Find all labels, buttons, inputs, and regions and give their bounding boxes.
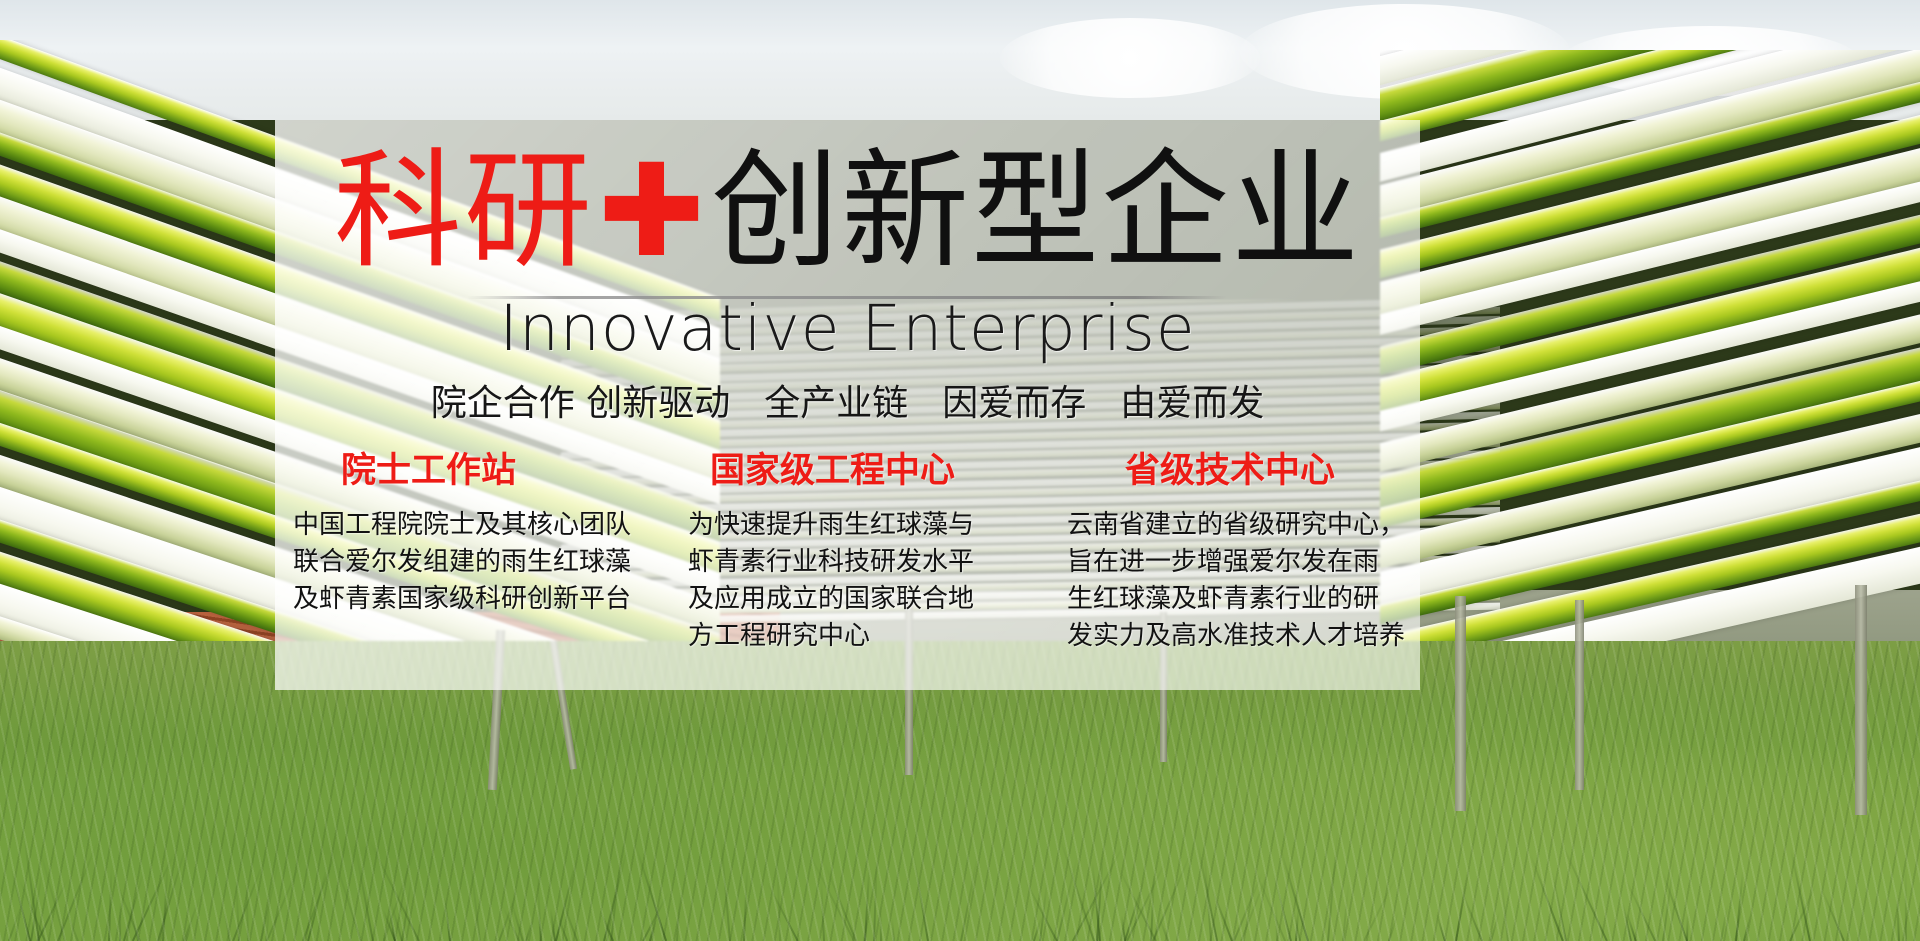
grass-blade xyxy=(132,852,175,941)
grass-blade xyxy=(265,894,271,941)
body-line: 为快速提升雨生红球藻与 xyxy=(688,507,1037,544)
grass-blade xyxy=(1158,918,1169,941)
grass-blade xyxy=(1240,857,1274,941)
grass-blade xyxy=(1124,880,1145,941)
grass-blade xyxy=(1024,878,1058,941)
tagline-item: 由爱而发 xyxy=(1120,374,1264,426)
grass-blade xyxy=(823,862,857,941)
support-post xyxy=(1575,600,1584,790)
grass-blade xyxy=(1388,911,1399,941)
tagline-item: 全产业链 xyxy=(764,374,908,426)
grass-blade xyxy=(22,830,40,941)
grass-blade xyxy=(801,840,854,941)
grass-blade xyxy=(891,918,895,941)
grass-blade xyxy=(302,844,339,941)
tagline-row: 院企合作 创新驱动全产业链因爱而存由爱而发 xyxy=(275,374,1420,426)
grass-blade xyxy=(30,872,43,941)
grass-blade xyxy=(634,843,667,941)
grass-blade xyxy=(1121,916,1126,941)
grass-blade xyxy=(1905,864,1907,941)
grass-blade xyxy=(1459,887,1483,941)
body-line: 生红球藻及虾青素行业的研 xyxy=(1067,581,1420,618)
grass-blade xyxy=(1436,913,1447,941)
body-line: 旨在进一步增强爱尔发在雨 xyxy=(1067,544,1420,581)
grass-blade xyxy=(108,865,113,941)
grass-blade xyxy=(1720,904,1729,941)
grass-blade xyxy=(873,856,878,941)
grass-blade xyxy=(1686,914,1689,941)
grass-blade xyxy=(537,910,542,941)
grass-blade xyxy=(1327,830,1339,941)
grass-blade xyxy=(1203,847,1212,941)
title-black-text: 创新型企业 xyxy=(711,137,1361,286)
grass-blade xyxy=(1233,870,1264,941)
column-heading: 省级技术中心 xyxy=(1067,442,1420,493)
grass-blade xyxy=(1210,886,1233,941)
grass-blade xyxy=(960,853,979,941)
grass-blade xyxy=(1272,873,1291,941)
grass-blade xyxy=(1295,908,1299,941)
grass-blade xyxy=(1126,856,1169,941)
grass-blade xyxy=(8,902,23,941)
grass-blade xyxy=(525,919,534,941)
grass-blade xyxy=(1491,911,1501,941)
grass-blade xyxy=(1114,859,1157,941)
grass-blade xyxy=(1624,878,1656,941)
body-line: 云南省建立的省级研究中心， xyxy=(1067,507,1420,544)
cloud-shape xyxy=(1000,18,1260,98)
grass-blade xyxy=(1622,901,1632,941)
grass-blade xyxy=(743,866,748,941)
subtitle-english: Innovative Enterprise xyxy=(275,292,1420,365)
grass-blade xyxy=(1626,912,1637,941)
grass-blade xyxy=(1091,861,1101,941)
banner-stage: 科研✚创新型企业 Innovative Enterprise 院企合作 创新驱动… xyxy=(0,0,1920,941)
grass-blade xyxy=(1662,857,1675,941)
grass-blade xyxy=(676,892,681,941)
grass-blade xyxy=(119,902,121,941)
feature-column-academician-workstation: 院士工作站 中国工程院院士及其核心团队 联合爱尔发组建的雨生红球藻 及虾青素国家… xyxy=(275,442,655,682)
grass-blade xyxy=(649,919,657,941)
main-title: 科研✚创新型企业 xyxy=(275,134,1420,290)
grass-blade xyxy=(260,854,281,941)
grass-blade xyxy=(1661,870,1688,941)
grass-blade xyxy=(502,906,520,941)
grass-blade xyxy=(1455,872,1468,941)
body-line: 及应用成立的国家联合地 xyxy=(688,581,1037,618)
grass-blade xyxy=(610,846,623,941)
grass-blade xyxy=(123,872,144,941)
grass-blade xyxy=(536,865,542,941)
grass-blade xyxy=(912,853,929,941)
grass-blade xyxy=(37,839,67,941)
grass-blade xyxy=(509,897,524,941)
grass-blade xyxy=(550,908,556,941)
grass-blade xyxy=(642,892,669,941)
grass-blade xyxy=(1498,858,1509,941)
grass-blade xyxy=(18,878,46,941)
grass-blade xyxy=(64,907,79,941)
grass-blade xyxy=(1280,848,1310,941)
grass-blade xyxy=(1153,846,1196,941)
grass-blade xyxy=(37,879,68,941)
body-line: 联合爱尔发组建的雨生红球藻 xyxy=(293,544,655,581)
grass-blade xyxy=(1896,894,1900,941)
column-body: 云南省建立的省级研究中心， 旨在进一步增强爱尔发在雨 生红球藻及虾青素行业的研 … xyxy=(1067,507,1420,655)
column-body: 中国工程院院士及其核心团队 联合爱尔发组建的雨生红球藻 及虾青素国家级科研创新平… xyxy=(293,507,655,618)
grass-blade xyxy=(1743,914,1751,941)
grass-blade xyxy=(776,846,781,941)
grass-blade xyxy=(864,864,871,941)
column-body: 为快速提升雨生红球藻与 虾青素行业科技研发水平 及应用成立的国家联合地 方工程研… xyxy=(688,507,1037,655)
support-post xyxy=(1855,585,1867,815)
grass-blade xyxy=(232,857,266,941)
body-line: 及虾青素国家级科研创新平台 xyxy=(293,581,655,618)
grass-blade xyxy=(1039,880,1048,941)
content-panel: 科研✚创新型企业 Innovative Enterprise 院企合作 创新驱动… xyxy=(275,120,1420,690)
grass-blade xyxy=(1559,839,1608,941)
grass-blade xyxy=(1058,834,1095,941)
grass-blade xyxy=(1789,847,1811,941)
grass-blade xyxy=(57,838,99,941)
column-heading: 国家级工程中心 xyxy=(688,442,1037,493)
grass-blade xyxy=(555,858,577,941)
grass-blade xyxy=(355,850,374,941)
grass-blade xyxy=(183,894,202,941)
grass-blade xyxy=(401,874,413,941)
feature-column-national-engineering-center: 国家级工程中心 为快速提升雨生红球藻与 虾青素行业科技研发水平 及应用成立的国家… xyxy=(655,442,1037,682)
grass-blade xyxy=(128,899,139,941)
grass-blade xyxy=(719,828,731,941)
grass-blade xyxy=(235,874,240,941)
grass-blade xyxy=(1293,908,1301,941)
grass-blade xyxy=(1363,868,1401,941)
grass-blade xyxy=(558,917,569,941)
grass-blade xyxy=(1033,917,1042,941)
body-line: 中国工程院院士及其核心团队 xyxy=(293,507,655,544)
feature-column-provincial-technology-center: 省级技术中心 云南省建立的省级研究中心， 旨在进一步增强爱尔发在雨 生红球藻及虾… xyxy=(1037,442,1420,682)
feature-columns: 院士工作站 中国工程院院士及其核心团队 联合爱尔发组建的雨生红球藻 及虾青素国家… xyxy=(275,442,1420,682)
grass-blade xyxy=(157,839,189,941)
grass-blade xyxy=(383,834,421,941)
body-line: 方工程研究中心 xyxy=(688,618,1037,655)
grass-blade xyxy=(223,907,231,941)
grass-blade xyxy=(330,847,362,941)
grass-blade xyxy=(766,881,799,941)
grass-blade xyxy=(1096,850,1104,941)
grass-blade xyxy=(820,879,825,941)
grass-blade xyxy=(1275,900,1278,941)
grass-blade xyxy=(185,921,193,941)
grass-blade xyxy=(368,838,420,941)
grass-blade xyxy=(382,909,396,941)
grass-blade xyxy=(388,905,396,941)
grass-blade xyxy=(444,897,451,941)
grass-blade xyxy=(879,906,882,941)
grass-blade xyxy=(307,866,328,941)
grass-blade xyxy=(1820,887,1845,941)
column-heading: 院士工作站 xyxy=(293,442,655,493)
title-red-text: 科研 xyxy=(334,137,594,286)
grass-blade xyxy=(1246,851,1286,941)
grass-blade xyxy=(1196,840,1218,941)
grass-blade xyxy=(468,848,481,941)
tagline-item: 因爱而存 xyxy=(942,374,1086,426)
grass-blade xyxy=(1552,871,1568,941)
grass-blade xyxy=(245,863,249,941)
grass-blade xyxy=(498,888,519,941)
grass-blade xyxy=(390,899,404,941)
grass-blade xyxy=(111,871,141,941)
plus-icon: ✚ xyxy=(594,137,711,286)
grass-blade xyxy=(1072,841,1126,941)
grass-blade xyxy=(603,848,628,941)
grass-blade xyxy=(1342,881,1350,941)
grass-blade xyxy=(266,854,304,941)
body-line: 虾青素行业科技研发水平 xyxy=(688,544,1037,581)
grass-blade xyxy=(162,859,169,941)
tagline-item: 院企合作 创新驱动 xyxy=(431,374,730,426)
grass-blade xyxy=(600,911,614,941)
grass-blade xyxy=(559,894,578,941)
grass-blade xyxy=(1150,874,1155,941)
grass-blade xyxy=(1735,869,1744,941)
body-line: 发实力及高水准技术人才培养 xyxy=(1067,618,1420,655)
grass-blade xyxy=(1529,852,1564,941)
grass-blade xyxy=(1056,855,1078,941)
grass-blade xyxy=(1789,881,1818,941)
grass-blade xyxy=(10,869,30,941)
support-post xyxy=(1455,596,1466,811)
